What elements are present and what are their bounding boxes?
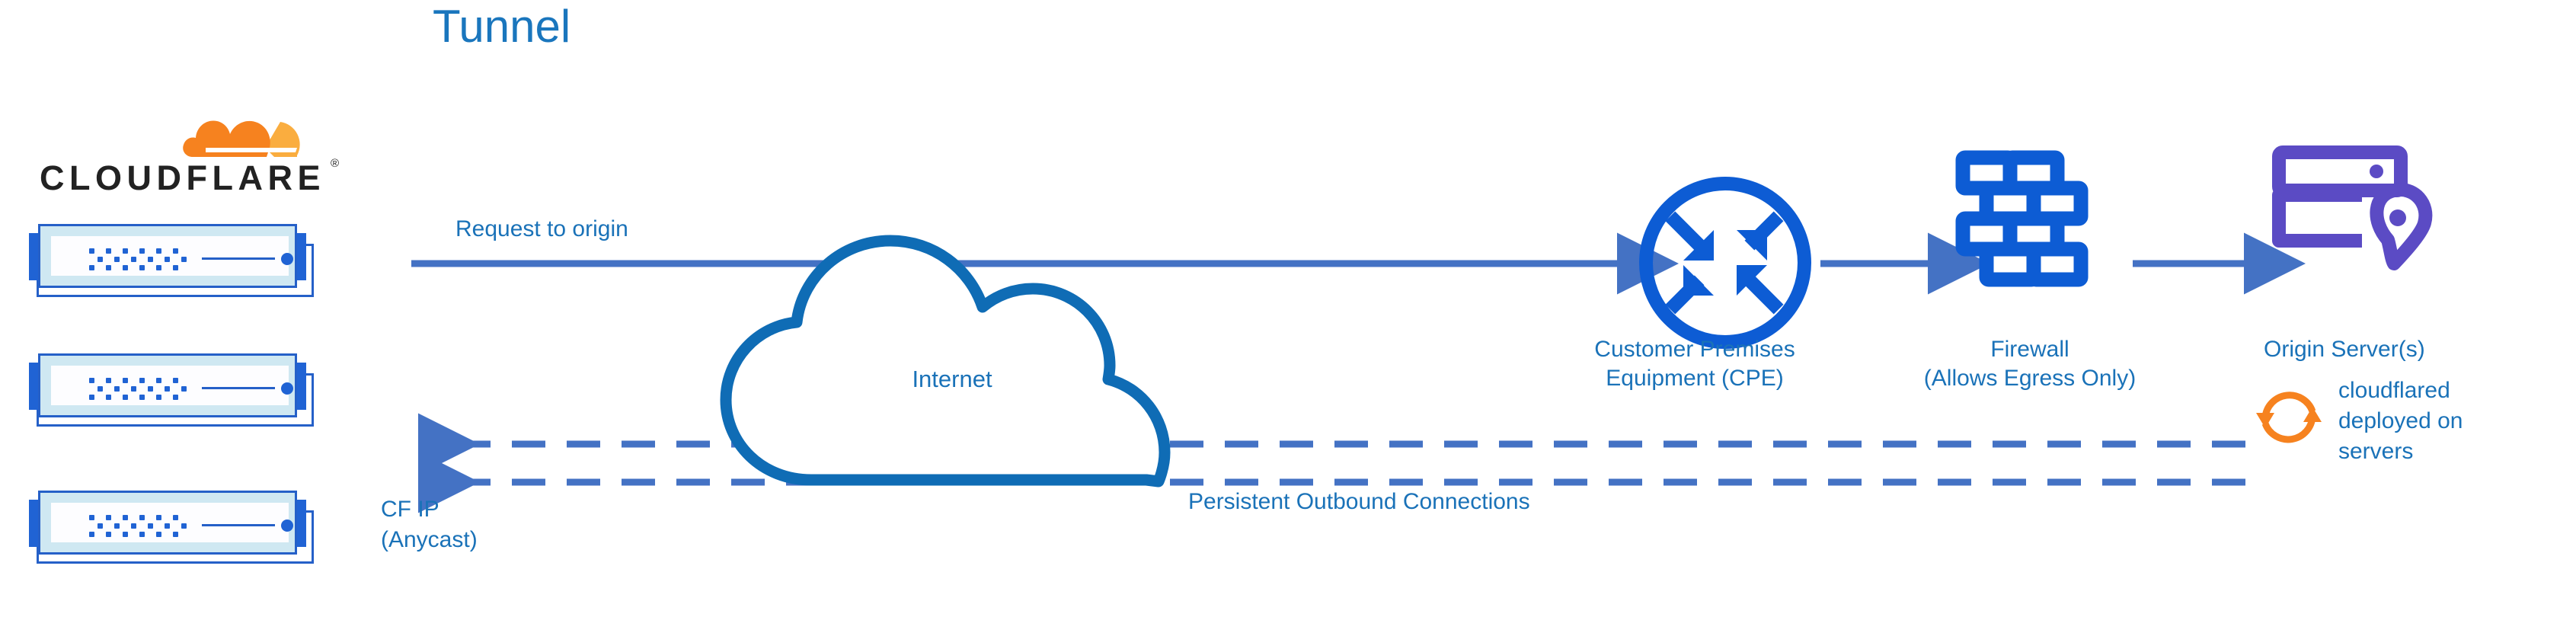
flow-connectors [0, 0, 2576, 617]
cloudflared-note-line2: deployed on [2338, 407, 2463, 436]
sync-refresh-icon [2253, 381, 2325, 452]
cf-ip-label-line2: (Anycast) [381, 526, 478, 555]
origin-server-label: Origin Server(s) [2264, 335, 2425, 364]
tunnel-diagram: Tunnel CLOUDFLARE ® [0, 0, 2576, 617]
firewall-label-line2: (Allows Egress Only) [1870, 364, 2190, 393]
converging-arrows-circle-icon [1630, 168, 1820, 358]
brick-wall-icon [1954, 149, 2106, 301]
cloudflared-note-line3: servers [2338, 437, 2413, 466]
firewall-label-line1: Firewall [1870, 335, 2190, 364]
cf-ip-label-line1: CF IP [381, 495, 439, 524]
cloudflared-note-line1: cloudflared [2338, 376, 2450, 405]
cpe-label-line1: Customer Premises [1542, 335, 1847, 364]
request-to-origin-label: Request to origin [455, 215, 628, 244]
persistent-outbound-connections-label: Persistent Outbound Connections [1188, 488, 1530, 516]
server-with-location-pin-icon [2270, 145, 2460, 297]
internet-label: Internet [830, 366, 1074, 393]
cpe-label-line2: Equipment (CPE) [1542, 364, 1847, 393]
